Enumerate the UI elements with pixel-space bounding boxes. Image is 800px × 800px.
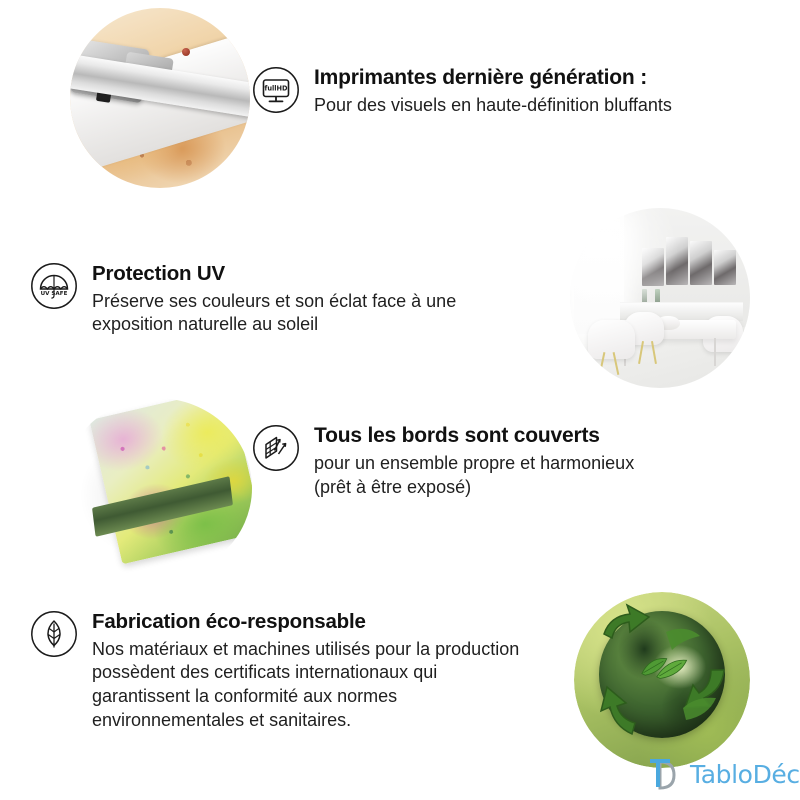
uv-safe-label: UV SAFE xyxy=(41,291,68,297)
leaves-icon xyxy=(637,652,690,680)
feature-body: Préserve ses couleurs et son éclat face … xyxy=(92,290,530,338)
feature-body: Nos matériaux et machines utilisés pour … xyxy=(92,638,590,733)
brand-wordmark: TabloDéco™ xyxy=(690,762,800,787)
feature-title: Tous les bords sont couverts xyxy=(314,424,752,448)
feature-wrapped-edges: Tous les bords sont couverts pour un ens… xyxy=(252,424,752,500)
feature-body-line: pour un ensemble propre et harmonieux xyxy=(314,452,752,476)
recycling-arrows-icon xyxy=(574,592,750,768)
feature-body-line: garantissent la conformité aux normes xyxy=(92,685,590,709)
window-glare xyxy=(570,208,750,388)
feature-title: Imprimantes dernière génération : xyxy=(314,66,772,90)
feature-body: Pour des visuels en haute-définition blu… xyxy=(314,94,772,118)
feature-uv-protection: UV SAFE Protection UV Préserve ses coule… xyxy=(30,262,530,337)
photo-canvas-corner xyxy=(62,398,252,578)
photo-interior-room xyxy=(570,208,750,388)
infographic-page: fullHD Imprimantes dernière génération :… xyxy=(0,0,800,800)
feature-body-line: exposition naturelle au soleil xyxy=(92,313,530,337)
svg-text:fullHD: fullHD xyxy=(264,84,288,92)
leaf-icon xyxy=(30,610,78,658)
wrapped-edges-icon xyxy=(252,424,300,472)
feature-body-line: (prêt à être exposé) xyxy=(314,476,752,500)
uv-safe-umbrella-icon: UV SAFE xyxy=(30,262,78,310)
photo-printer xyxy=(70,8,250,188)
feature-title: Fabrication éco-responsable xyxy=(92,610,590,634)
feature-printers: fullHD Imprimantes dernière génération :… xyxy=(252,66,772,118)
feature-body-line: environnementales et sanitaires. xyxy=(92,709,590,733)
photo-eco-globe xyxy=(574,592,750,768)
feature-title: Protection UV xyxy=(92,262,530,286)
feature-body-line: Préserve ses couleurs et son éclat face … xyxy=(92,290,530,314)
feature-body-line: Nos matériaux et machines utilisés pour … xyxy=(92,638,590,662)
brand-name: TabloDéco xyxy=(690,760,800,789)
feature-body-line: possèdent des certificats internationaux… xyxy=(92,661,590,685)
feature-eco-manufacturing: Fabrication éco-responsable Nos matériau… xyxy=(30,610,590,733)
feature-body: pour un ensemble propre et harmonieux (p… xyxy=(314,452,752,500)
tablodeco-monogram-icon xyxy=(648,756,686,792)
fullhd-monitor-icon: fullHD xyxy=(252,66,300,114)
printer-indicator-dot xyxy=(182,48,190,56)
feature-body-line: Pour des visuels en haute-définition blu… xyxy=(314,94,772,118)
brand-logo[interactable]: TabloDéco™ fr xyxy=(648,756,800,792)
